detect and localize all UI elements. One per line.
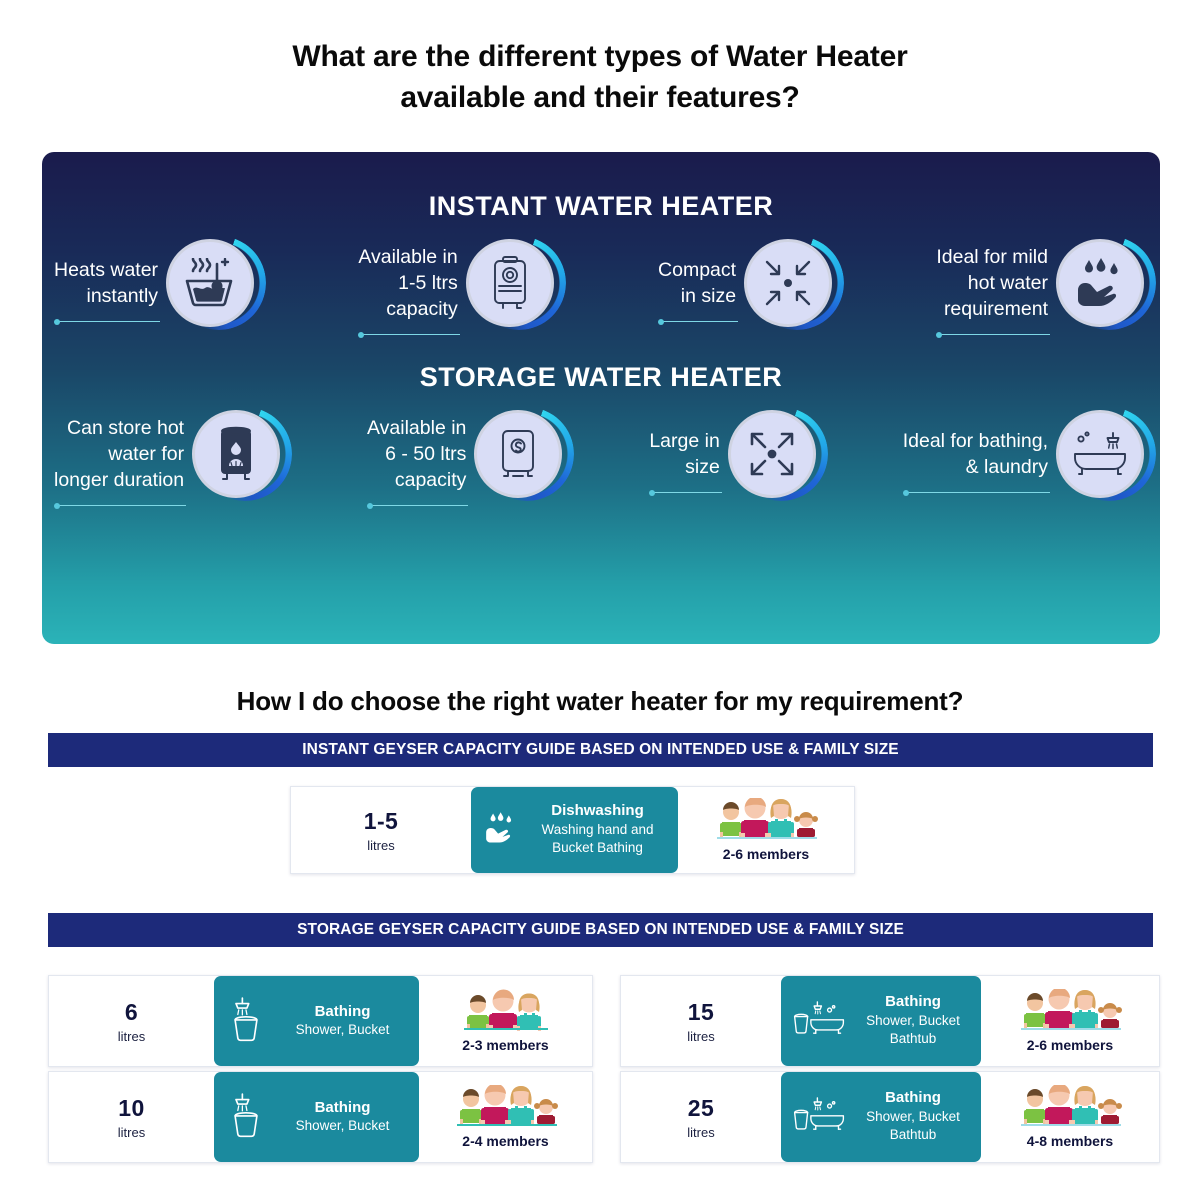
feature-badge [474,407,568,501]
feature-label: Ideal for mild hot water requirement [936,244,1056,322]
use-description: Shower, Bucket Bathtub [855,1012,971,1048]
family-size: 4-8 members [981,1072,1159,1162]
instant-feature-row: Heats water instantly [42,236,1160,330]
capacity-row-storage-15: 15 litres Bathing Shower, Bucket Bathtub [620,975,1160,1067]
family-size: 2-4 members [419,1072,592,1162]
bathtub-shower-icon [1056,410,1144,498]
use-description: Shower, Bucket Bathtub [855,1108,971,1144]
instant-guide-bar: INSTANT GEYSER CAPACITY GUIDE BASED ON I… [48,733,1153,767]
feature-large-in-size: Large in size [649,407,821,501]
intended-use-text: Bathing Shower, Bucket [276,1003,409,1040]
intended-use-box: Bathing Shower, Bucket [214,976,419,1066]
feature-label: Ideal for bathing, & laundry [903,428,1056,480]
family-label: 2-6 members [1027,1037,1113,1053]
intended-use-text: Dishwashing Washing hand and Bucket Bath… [527,802,668,857]
capacity-row-instant-1-5: 1-5 litres Dishwashing Washing hand and … [290,786,855,874]
feature-badge [192,407,286,501]
use-description: Shower, Bucket [276,1021,409,1039]
feature-label: Can store hot water for longer duration [54,415,192,493]
feature-badge [744,236,838,330]
family-label: 2-3 members [462,1037,548,1053]
use-title: Bathing [276,1099,409,1118]
capacity-unit: litres [118,1029,145,1044]
storage-feature-row: Can store hot water for longer duration [42,407,1160,501]
feature-badge [166,236,260,330]
section-subtitle: How I do choose the right water heater f… [0,686,1200,717]
feature-storage-capacity: Available in 6 - 50 ltrs capacity [367,407,568,501]
feature-badge [1056,407,1150,501]
capacity-row-storage-25: 25 litres Bathing Shower, Bucket Bathtub [620,1071,1160,1163]
bucket-bathtub-icon [793,1094,845,1141]
feature-label: Available in 1-5 ltrs capacity [358,244,465,322]
capacity-unit: litres [687,1029,714,1044]
intended-use-text: Bathing Shower, Bucket Bathtub [855,1089,971,1144]
feature-label: Compact in size [658,257,744,309]
family-3-icon [458,989,553,1035]
compress-arrows-icon [744,239,832,327]
capacity-value: 1-5 [364,808,398,835]
heater-types-panel: INSTANT WATER HEATER Heats water instant… [42,152,1160,644]
capacity-unit: litres [367,838,394,853]
capacity-litres: 25 litres [621,1072,781,1162]
steaming-water-basin-icon [166,239,254,327]
family-4-icon [1015,1085,1125,1131]
intended-use-box: Bathing Shower, Bucket [214,1072,419,1162]
intended-use-box: Bathing Shower, Bucket Bathtub [781,976,981,1066]
capacity-litres: 6 litres [49,976,214,1066]
feature-badge [728,407,822,501]
feature-compact-in-size: Compact in size [658,236,838,330]
capacity-litres: 15 litres [621,976,781,1066]
washing-hands-icon [483,811,517,850]
storage-geyser-icon [474,410,562,498]
instant-section-title: INSTANT WATER HEATER [42,191,1160,222]
page-title: What are the different types of Water He… [0,0,1200,119]
use-title: Bathing [276,1003,409,1022]
feature-store-hot-water: Can store hot water for longer duration [54,407,286,501]
feature-label: Available in 6 - 50 ltrs capacity [367,415,474,493]
family-size: 2-6 members [981,976,1159,1066]
family-size: 2-3 members [419,976,592,1066]
expand-arrows-icon [728,410,816,498]
capacity-row-storage-6: 6 litres Bathing Shower, Bucket [48,975,593,1067]
washing-hands-icon [1056,239,1144,327]
capacity-value: 6 [125,999,138,1026]
capacity-value: 15 [688,999,714,1026]
capacity-row-storage-10: 10 litres Bathing Shower, Bucket [48,1071,593,1163]
capacity-value: 10 [118,1095,144,1122]
shower-bucket-icon [226,1092,266,1143]
family-4-icon [1015,989,1125,1035]
intended-use-box: Dishwashing Washing hand and Bucket Bath… [471,787,678,873]
instant-geyser-icon [466,239,554,327]
family-size: 2-6 members [678,787,854,873]
intended-use-text: Bathing Shower, Bucket [276,1099,409,1136]
feature-instant-capacity: Available in 1-5 ltrs capacity [358,236,559,330]
use-title: Dishwashing [527,802,668,821]
family-label: 2-6 members [723,846,809,862]
page-title-line2: available and their features? [0,77,1200,118]
capacity-litres: 1-5 litres [291,787,471,873]
intended-use-box: Bathing Shower, Bucket Bathtub [781,1072,981,1162]
capacity-unit: litres [118,1125,145,1140]
family-label: 2-4 members [462,1133,548,1149]
feature-heats-water-instantly: Heats water instantly [54,236,260,330]
feature-label: Heats water instantly [54,257,166,309]
storage-tank-icon [192,410,280,498]
shower-bucket-icon [226,996,266,1047]
capacity-value: 25 [688,1095,714,1122]
use-description: Washing hand and Bucket Bathing [527,821,668,857]
feature-bathing-laundry: Ideal for bathing, & laundry [903,407,1150,501]
feature-label: Large in size [649,428,727,480]
capacity-litres: 10 litres [49,1072,214,1162]
infographic-page: What are the different types of Water He… [0,0,1200,1200]
capacity-unit: litres [687,1125,714,1140]
family-4-icon [711,798,821,844]
feature-badge [466,236,560,330]
storage-section-title: STORAGE WATER HEATER [42,362,1160,393]
feature-mild-hot-water: Ideal for mild hot water requirement [936,236,1150,330]
family-4-icon [451,1085,561,1131]
intended-use-text: Bathing Shower, Bucket Bathtub [855,993,971,1048]
use-title: Bathing [855,1089,971,1108]
use-description: Shower, Bucket [276,1117,409,1135]
storage-guide-bar: STORAGE GEYSER CAPACITY GUIDE BASED ON I… [48,913,1153,947]
page-title-line1: What are the different types of Water He… [0,36,1200,77]
feature-badge [1056,236,1150,330]
use-title: Bathing [855,993,971,1012]
bucket-bathtub-icon [793,998,845,1045]
family-label: 4-8 members [1027,1133,1113,1149]
